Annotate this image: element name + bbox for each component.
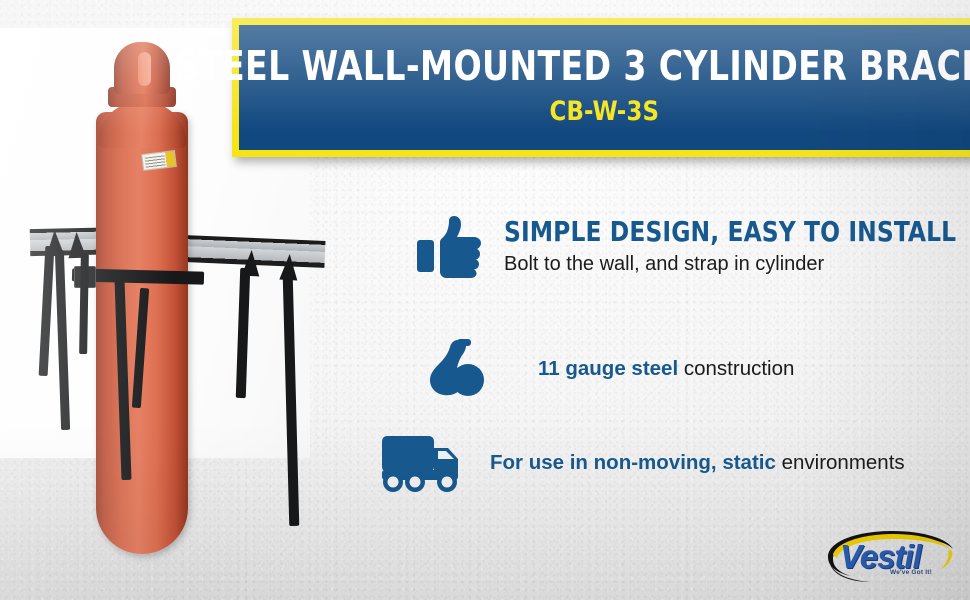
feature-headline: SIMPLE DESIGN, EASY TO INSTALL <box>504 217 956 246</box>
feature-text-block: For use in non-moving, static environmen… <box>490 451 905 475</box>
banner-stage: STEEL WALL-MOUNTED 3 CYLINDER BRACKET CB… <box>0 0 970 600</box>
feature-rest: environments <box>776 451 905 474</box>
feature-text-block: 11 gauge steel construction <box>538 357 794 381</box>
gas-cylinder-cap-slot <box>138 52 151 86</box>
page-title: STEEL WALL-MOUNTED 3 CYLINDER BRACKET <box>175 46 970 87</box>
vestil-logo: Vestil We've Got It! <box>820 527 960 585</box>
model-number: CB-W-3S <box>550 98 660 125</box>
box-truck-icon <box>382 434 466 492</box>
flexed-bicep-icon <box>424 338 486 400</box>
feature-line: For use in non-moving, static environmen… <box>490 451 905 475</box>
logo-tagline: We've Got It! <box>890 569 932 576</box>
title-banner: STEEL WALL-MOUNTED 3 CYLINDER BRACKET CB… <box>232 18 970 157</box>
feature-item-steel-gauge: 11 gauge steel construction <box>424 338 794 400</box>
thumbs-up-icon <box>416 216 482 278</box>
feature-line: 11 gauge steel construction <box>538 357 794 381</box>
feature-item-static-environment: For use in non-moving, static environmen… <box>382 434 905 492</box>
feature-rest: construction <box>678 357 794 380</box>
feature-item-simple-design: SIMPLE DESIGN, EASY TO INSTALL Bolt to t… <box>416 216 970 278</box>
feature-highlight: For use in non-moving, static <box>490 451 776 474</box>
feature-subtext: Bolt to the wall, and strap in cylinder <box>504 252 970 277</box>
title-banner-inner: STEEL WALL-MOUNTED 3 CYLINDER BRACKET CB… <box>239 25 970 150</box>
feature-text-block: SIMPLE DESIGN, EASY TO INSTALL Bolt to t… <box>504 217 970 276</box>
feature-highlight: 11 gauge steel <box>538 357 678 380</box>
